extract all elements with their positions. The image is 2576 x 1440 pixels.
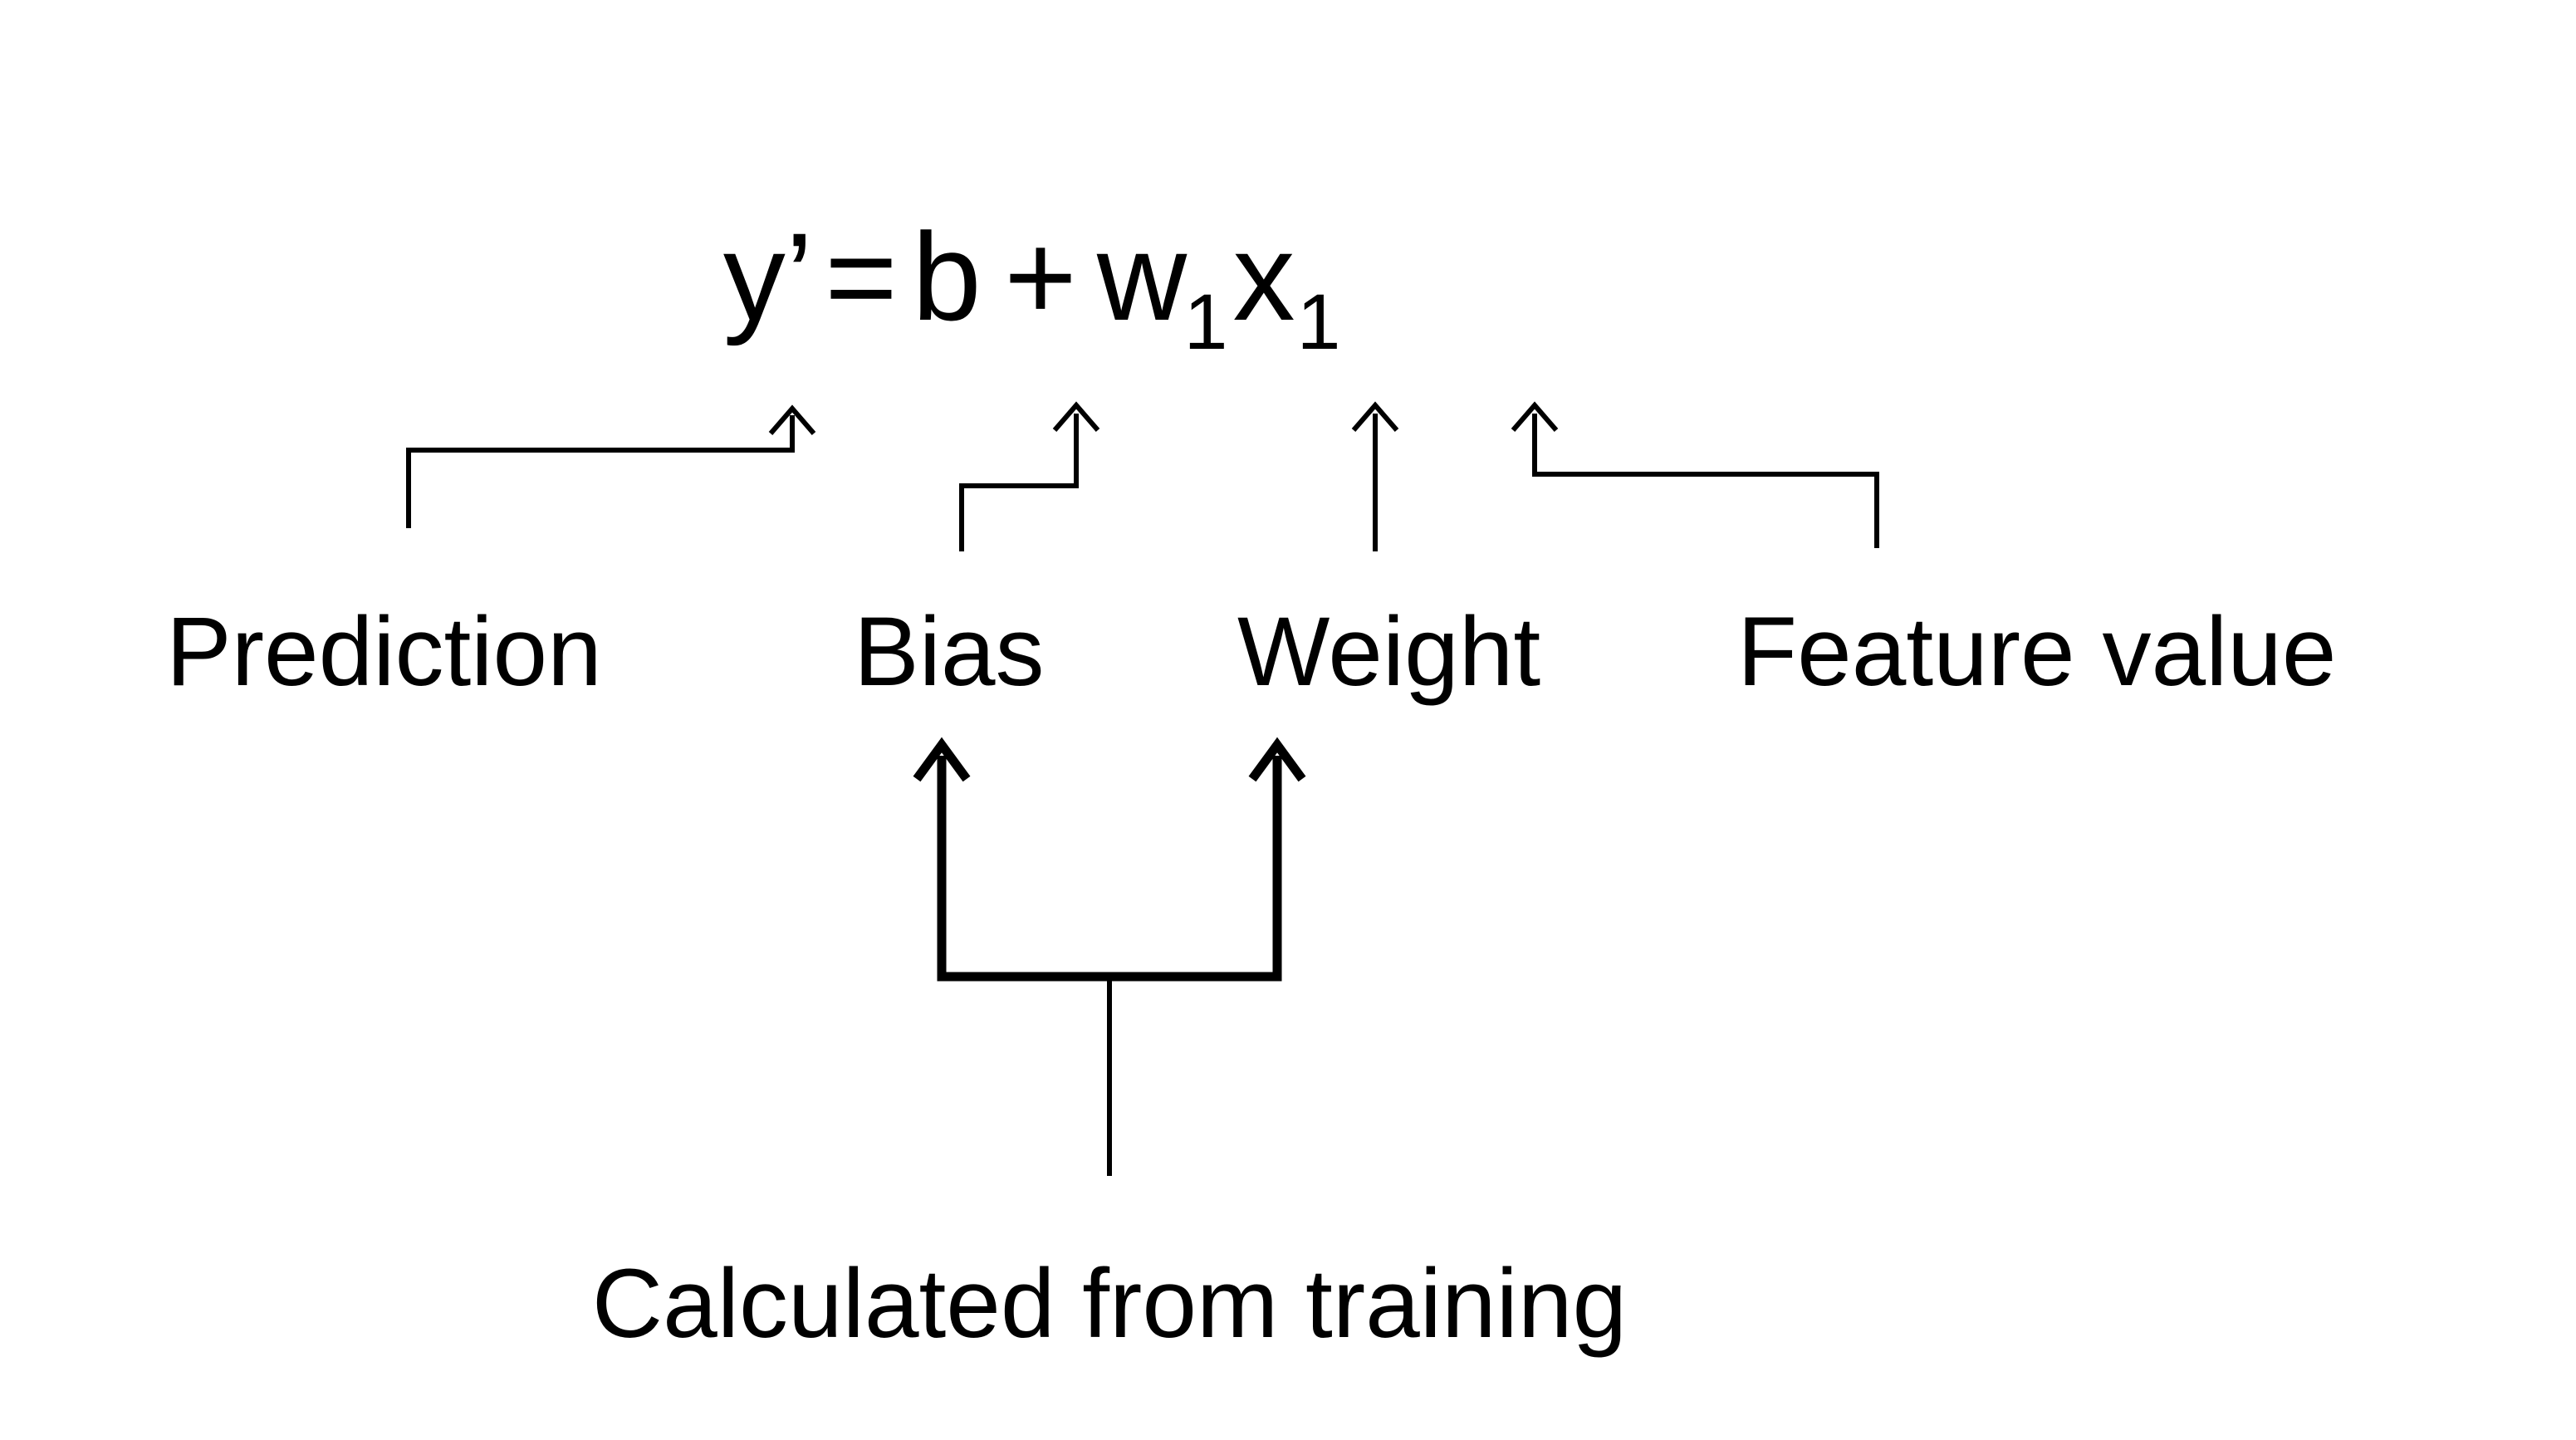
diagram-canvas: y’ = b + w 1 x 1 — [0, 0, 2576, 1440]
formula-y-prime: y’ — [723, 207, 813, 346]
connector-bias-path — [962, 414, 1076, 551]
connector-prediction-path — [409, 415, 792, 528]
equation-annotation-diagram: y’ = b + w 1 x 1 — [0, 0, 2576, 1440]
grouping-bracket — [917, 745, 1302, 1176]
connector-feature-value — [1513, 405, 1877, 548]
formula-weight-symbol: w — [1096, 207, 1188, 346]
connector-feature-value-path — [1535, 414, 1877, 548]
formula-weight-subscript: 1 — [1184, 278, 1228, 366]
label-prediction: Prediction — [166, 597, 602, 707]
grouping-caption: Calculated from training — [592, 1249, 1627, 1359]
label-bias: Bias — [854, 597, 1045, 707]
label-weight: Weight — [1237, 597, 1540, 707]
connector-prediction — [409, 409, 814, 528]
formula-feature-subscript: 1 — [1297, 278, 1341, 366]
label-feature-value: Feature value — [1737, 597, 2337, 707]
formula-plus: + — [1004, 207, 1077, 346]
formula-equals: = — [825, 207, 898, 346]
connector-bias — [962, 405, 1098, 551]
formula-group: y’ = b + w 1 x 1 — [723, 207, 1341, 366]
annotation-labels: Prediction Bias Weight Feature value — [166, 597, 2337, 707]
formula-feature-symbol: x — [1233, 207, 1295, 346]
grouping-bracket-path — [942, 756, 1277, 977]
formula-bias-symbol: b — [912, 207, 981, 346]
connector-weight — [1354, 405, 1397, 551]
